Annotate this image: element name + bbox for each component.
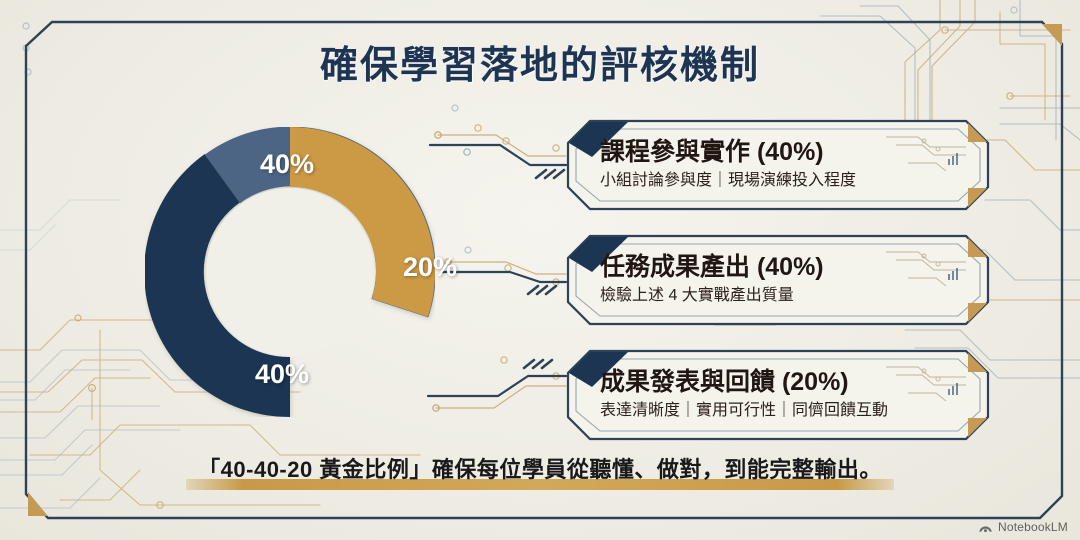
donut-chart: 40% 40% 20% xyxy=(145,127,435,417)
card-1-subtitle: 小組討論參與度｜現場演練投入程度 xyxy=(600,171,980,192)
card-2-subtitle: 檢驗上述 4 大實戰產出質量 xyxy=(600,286,980,307)
card-1-title: 課程參與實作 (40%) xyxy=(600,138,980,168)
criteria-card-3[interactable]: 成果發表與回饋 (20%) 表達清晰度｜實用可行性｜同儕回饋互動 xyxy=(566,349,990,441)
footer-text: 「40-40-20 黃金比例」確保每位學員從聽懂、做對，到能完整輸出。 xyxy=(198,457,882,482)
page-title: 確保學習落地的評核機制 xyxy=(0,34,1080,89)
criteria-card-2[interactable]: 任務成果產出 (40%) 檢驗上述 4 大實戰產出質量 xyxy=(566,234,990,326)
card-3-title: 成果發表與回饋 (20%) xyxy=(600,368,980,398)
card-3-subtitle: 表達清晰度｜實用可行性｜同儕回饋互動 xyxy=(600,401,980,422)
card-2-content: 任務成果產出 (40%) 檢驗上述 4 大實戰產出質量 xyxy=(600,244,980,316)
footer-summary: 「40-40-20 黃金比例」確保每位學員從聽懂、做對，到能完整輸出。 xyxy=(0,452,1080,490)
notebooklm-watermark: NotebookLM xyxy=(978,520,1068,534)
notebooklm-logo-icon xyxy=(978,521,993,534)
criteria-card-1[interactable]: 課程參與實作 (40%) 小組討論參與度｜現場演練投入程度 xyxy=(566,119,990,211)
watermark-label: NotebookLM xyxy=(998,520,1068,534)
card-2-title: 任務成果產出 (40%) xyxy=(600,253,980,283)
card-3-content: 成果發表與回饋 (20%) 表達清晰度｜實用可行性｜同儕回饋互動 xyxy=(600,359,980,431)
card-1-content: 課程參與實作 (40%) 小組討論參與度｜現場演練投入程度 xyxy=(600,129,980,201)
donut-label-slice-1: 40% xyxy=(260,149,314,180)
donut-label-slice-2: 40% xyxy=(255,359,309,390)
slide-root: 確保學習落地的評核機制 40% 40% 20% xyxy=(0,0,1080,540)
donut-label-slice-3: 20% xyxy=(403,252,457,283)
